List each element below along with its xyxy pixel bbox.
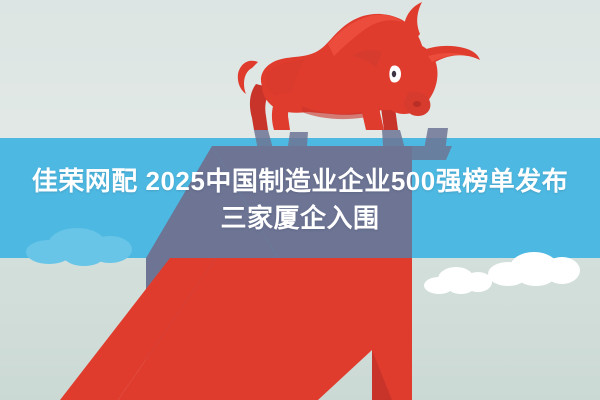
poster-image: 佳荣网配 2025中国制造业企业500强榜单发布 三家厦企入围: [0, 0, 600, 400]
headline-line-2: 三家厦企入围: [0, 205, 600, 231]
bull-icon: [232, 0, 482, 156]
headline-line-1: 佳荣网配 2025中国制造业企业500强榜单发布: [0, 168, 600, 194]
